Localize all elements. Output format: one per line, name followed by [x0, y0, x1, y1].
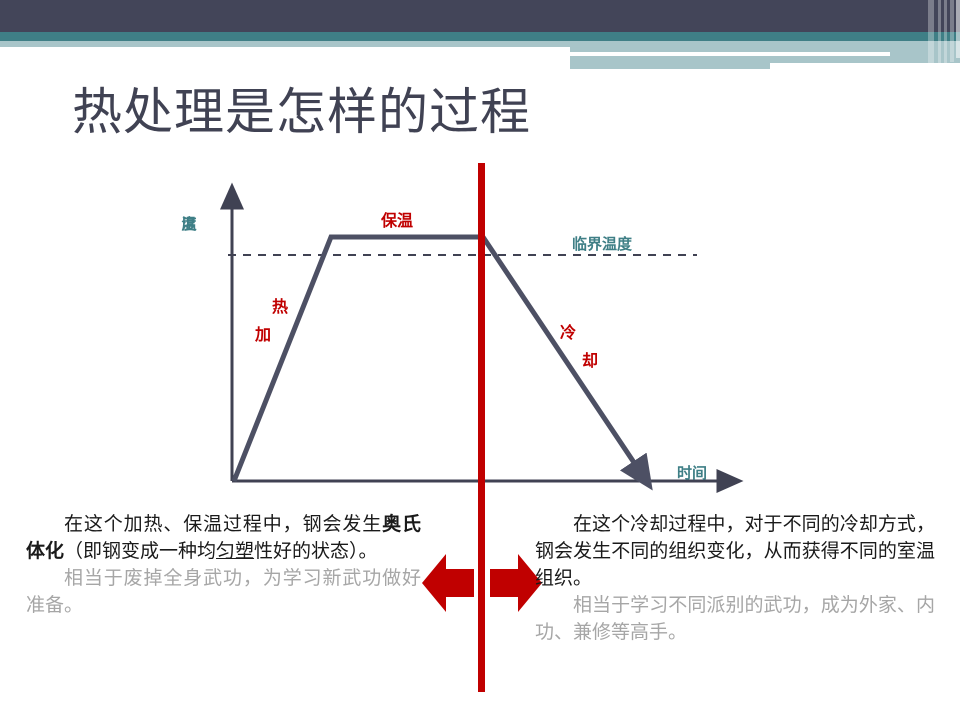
left-paragraph-underlined: 匀塑 — [216, 541, 254, 562]
left-paragraph-mid: （即钢变成一种均 — [64, 541, 216, 562]
header-vertical-stripe-1 — [928, 0, 934, 70]
temperature-curve — [234, 237, 643, 481]
header-band-teal — [0, 32, 960, 41]
process-divider-line — [478, 163, 485, 692]
left-block-arrow — [422, 550, 474, 616]
critical-temperature-label: 临界温度 — [572, 235, 633, 253]
header-band-light-teal-tertiary — [570, 63, 770, 69]
cooling-stage-label-char-2: 却 — [582, 351, 598, 370]
chart-y-axis-label-char-1: 温度 — [180, 215, 197, 232]
left-description-panel: 在这个加热、保温过程中，钢会发生奥氏体化（即钢变成一种均匀塑性好的状态）。 相当… — [26, 512, 421, 620]
header-band-white-slit — [570, 52, 890, 56]
right-paragraph-secondary: 相当于学习不同派别的武功，成为外家、内功、兼修等高手。 — [535, 593, 935, 647]
right-paragraph-primary: 在这个冷却过程中，对于不同的冷却方式，钢会发生不同的组织变化，从而获得不同的室温… — [535, 512, 935, 593]
header-vertical-stripe-3 — [944, 0, 947, 70]
heating-stage-label-char-1: 热 — [272, 297, 288, 316]
header-decoration — [0, 0, 960, 90]
left-paragraph-primary: 在这个加热、保温过程中，钢会发生奥氏体化（即钢变成一种均匀塑性好的状态）。 — [26, 512, 421, 566]
header-band-dark — [0, 0, 960, 32]
left-paragraph-secondary: 相当于废掉全身武功，为学习新武功做好准备。 — [26, 566, 421, 620]
chart-x-axis-label: 时间 — [677, 464, 707, 482]
left-paragraph-suffix: 性好的状态）。 — [254, 541, 378, 562]
page-title: 热处理是怎样的过程 — [72, 84, 531, 142]
cooling-stage-label-char-1: 冷 — [560, 323, 576, 342]
holding-stage-label: 保温 — [380, 211, 413, 230]
header-vertical-stripe-5 — [956, 0, 960, 58]
left-paragraph-prefix: 在这个加热、保温过程中，钢会发生 — [64, 514, 382, 535]
heating-stage-label-char-2: 加 — [254, 326, 271, 344]
header-vertical-stripe-4 — [950, 0, 954, 62]
header-vertical-stripe-2 — [938, 0, 941, 70]
right-description-panel: 在这个冷却过程中，对于不同的冷却方式，钢会发生不同的组织变化，从而获得不同的室温… — [535, 512, 935, 647]
